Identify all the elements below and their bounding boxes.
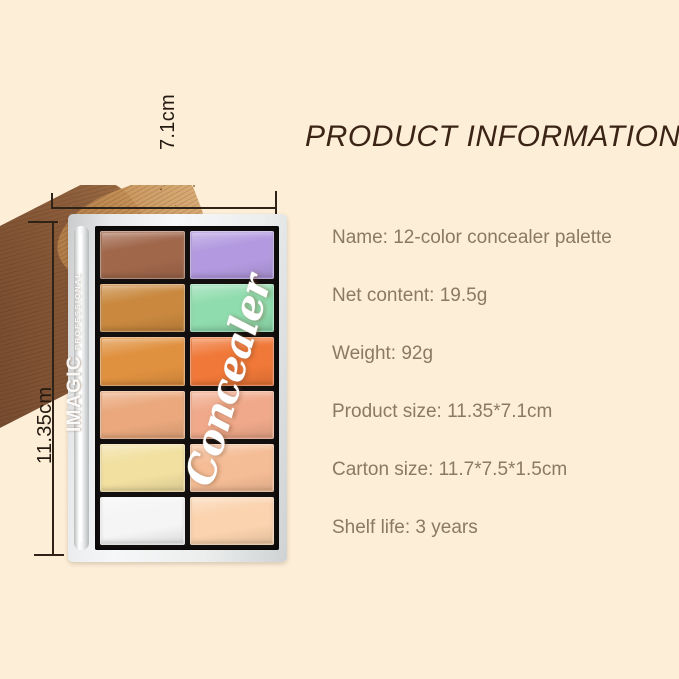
concealer-pan-deep-brown — [100, 231, 185, 279]
spec-item-carton-size: Carton size: 11.7*7.5*1.5cm — [332, 459, 679, 517]
concealer-pan-ochre — [100, 284, 185, 332]
height-dimension-tick-bottom — [34, 554, 64, 556]
width-dimension-label: 7.1cm — [157, 94, 180, 150]
height-dimension-label: 11.35cm — [34, 387, 57, 464]
concealer-pan-mint-green — [190, 284, 275, 332]
palette-tray — [95, 226, 279, 550]
spec-item-product-size: Product size: 11.35*7.1cm — [332, 401, 679, 459]
concealer-pan-lavender — [190, 231, 275, 279]
palette-hinge-strip — [74, 226, 89, 550]
spec-item-weight: Weight: 92g — [332, 343, 679, 401]
spec-item-shelf-life: Shelf life: 3 years — [332, 517, 679, 575]
palette-case — [68, 214, 287, 562]
concealer-pan-orange-tan — [100, 337, 185, 385]
spec-item-name: Name: 12-color concealer palette — [332, 227, 679, 285]
specification-list: Name: 12-color concealer paletteNet cont… — [332, 227, 679, 575]
concealer-pan-pale-yellow — [100, 444, 185, 492]
pan-grid — [100, 231, 274, 545]
product-information-graphic: 7.1cm 11.35cm IMAGIC PROFESSIONAL Concea… — [0, 0, 679, 679]
concealer-pan-salmon — [190, 391, 275, 439]
page-title: PRODUCT INFORMATION — [305, 120, 665, 154]
concealer-palette-photo — [68, 214, 287, 562]
information-panel: PRODUCT INFORMATION Name: 12-color conce… — [305, 120, 665, 154]
concealer-pan-peach — [190, 444, 275, 492]
width-dimension-line — [52, 207, 276, 209]
spec-item-net-content: Net content: 19.5g — [332, 285, 679, 343]
concealer-pan-light-peach — [190, 497, 275, 545]
concealer-pan-white — [100, 497, 185, 545]
concealer-pan-bright-orange — [190, 337, 275, 385]
concealer-pan-peach-tan — [100, 391, 185, 439]
